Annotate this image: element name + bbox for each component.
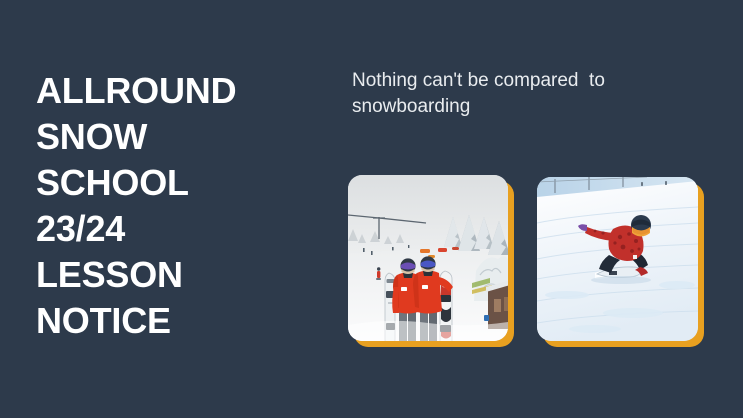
slide-subtitle: Nothing can't be compared to snowboardin… — [352, 68, 722, 120]
photo-snowboarder-carving — [537, 177, 698, 341]
presentation-slide: ALLROUND SNOW SCHOOL 23/24 LESSON NOTICE… — [0, 0, 743, 418]
photo-card-instructors[interactable] — [348, 175, 508, 341]
page-title: ALLROUND SNOW SCHOOL 23/24 LESSON NOTICE — [36, 68, 336, 344]
photo-card-carving[interactable] — [537, 177, 698, 341]
photo-snowboard-instructors — [348, 175, 508, 341]
